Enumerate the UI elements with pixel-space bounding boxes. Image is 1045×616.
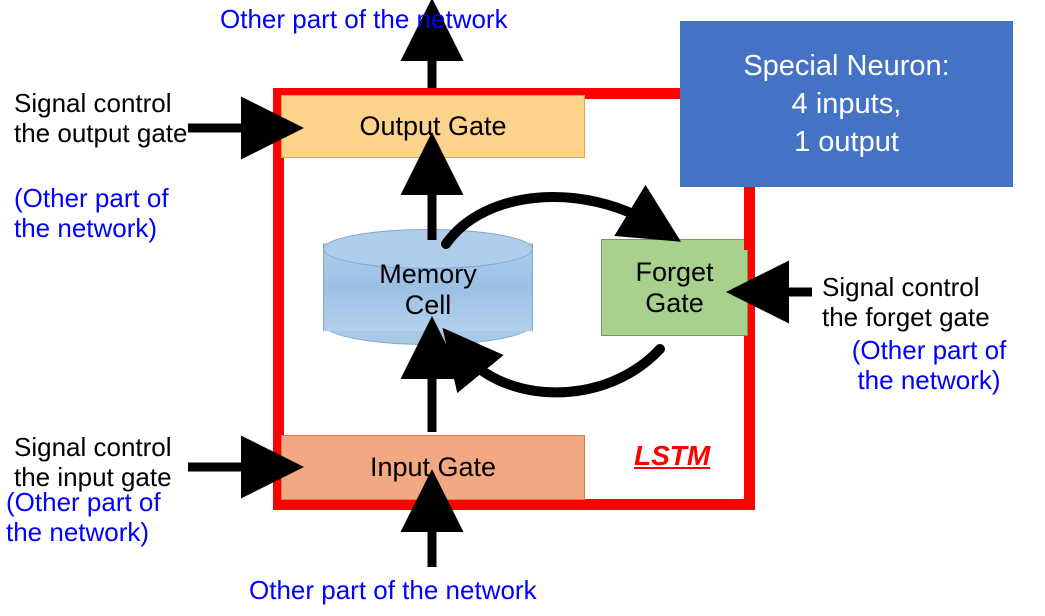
- special-neuron-callout: Special Neuron: 4 inputs, 1 output: [680, 21, 1013, 187]
- forget-gate-label: Forget Gate: [635, 257, 713, 317]
- label-bottom-network: Other part of the network: [249, 575, 669, 605]
- input-gate-label: Input Gate: [370, 452, 496, 483]
- special-neuron-line-1: Special Neuron:: [743, 47, 949, 85]
- label-output-gate-source: (Other part of the network): [14, 183, 264, 243]
- label-input-gate-signal: Signal control the input gate: [14, 432, 270, 492]
- memory-cell-label: Memory Cell: [323, 259, 533, 321]
- label-forget-gate-signal: Signal control the forget gate: [822, 272, 1045, 332]
- forget-gate-box[interactable]: Forget Gate: [601, 239, 748, 336]
- label-output-gate-signal: Signal control the output gate: [14, 88, 264, 148]
- special-neuron-line-2: 4 inputs,: [792, 85, 902, 123]
- output-gate-box[interactable]: Output Gate: [281, 95, 585, 158]
- diagram-canvas: Output Gate Input Gate Forget Gate Memor…: [0, 0, 1045, 616]
- input-gate-box[interactable]: Input Gate: [281, 435, 585, 500]
- special-neuron-line-3: 1 output: [794, 123, 899, 161]
- label-top-network: Other part of the network: [220, 4, 640, 34]
- label-input-gate-source: (Other part of the network): [6, 487, 262, 547]
- lstm-tag-label: LSTM: [634, 440, 710, 472]
- memory-cell-cylinder[interactable]: Memory Cell: [323, 229, 533, 345]
- output-gate-label: Output Gate: [359, 111, 506, 142]
- label-forget-gate-source: (Other part of the network): [812, 335, 1045, 395]
